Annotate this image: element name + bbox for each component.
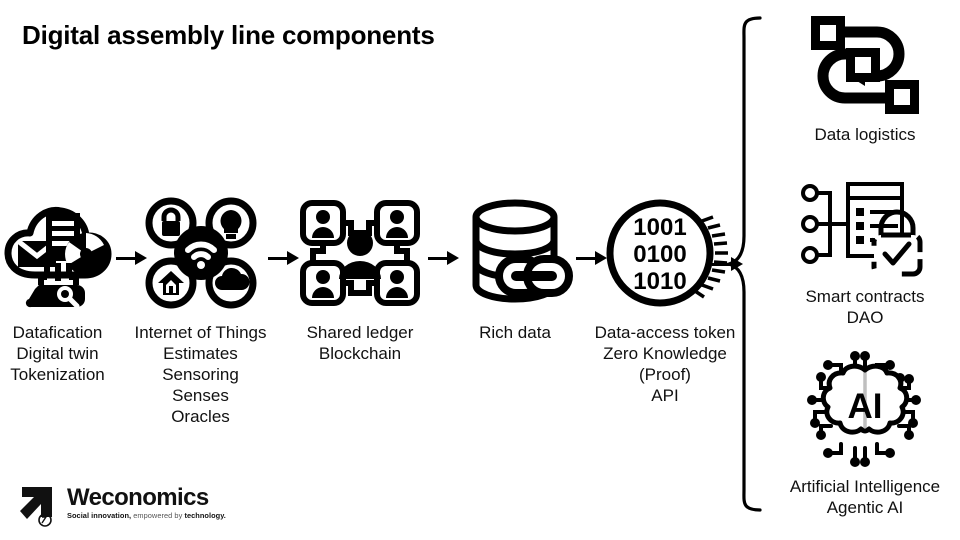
caption-line: Data logistics [770, 124, 960, 145]
caption-line: (Proof) [592, 364, 738, 385]
database-chain-icon [455, 188, 575, 318]
caption-line: Datafication [0, 322, 115, 343]
stage-caption-shared-ledger: Shared ledger Blockchain [295, 322, 425, 364]
arrow-mark-icon [18, 483, 58, 527]
caption-line: Internet of Things [128, 322, 273, 343]
output-caption-artificial-intelligence: Artificial Intelligence Agentic AI [770, 476, 960, 518]
output-caption-smart-contracts: Smart contracts DAO [770, 286, 960, 328]
ai-brain-circuit-icon: AI [770, 348, 960, 470]
pipeline-stage-internet-of-things: Internet of Things Estimates Sensoring S… [128, 188, 273, 427]
stage-caption-datafication: Datafication Digital twin Tokenization [0, 322, 115, 385]
iot-network-icon [128, 188, 273, 318]
stage-caption-internet-of-things: Internet of Things Estimates Sensoring S… [128, 322, 273, 427]
caption-line: Tokenization [0, 364, 115, 385]
output-data-logistics: Data logistics [770, 14, 960, 145]
caption-line: Artificial Intelligence [770, 476, 960, 497]
weconomics-logo: Weconomics Social innovation, empowered … [18, 483, 226, 527]
flow-route-icon [770, 14, 960, 118]
caption-line: Digital twin [0, 343, 115, 364]
caption-line: Shared ledger [295, 322, 425, 343]
contract-lock-icon [770, 180, 960, 278]
caption-line: Data-access token [592, 322, 738, 343]
caption-line: API [592, 385, 738, 406]
token-digits-line-3: 1010 [633, 268, 686, 295]
output-artificial-intelligence: AI Artificial Intelligence Agentic AI [770, 348, 960, 518]
peer-network-icon [295, 188, 425, 318]
flow-arrow-2-icon [268, 250, 298, 266]
logo-wordmark: Weconomics [67, 486, 226, 510]
pipeline-stage-data-access-token: 1001 0100 1010 Data-access token Zero Kn… [592, 188, 738, 406]
ai-brain-label: AI [848, 387, 883, 426]
output-caption-data-logistics: Data logistics [770, 124, 960, 145]
output-smart-contracts: Smart contracts DAO [770, 180, 960, 328]
stage-caption-rich-data: Rich data [455, 322, 575, 343]
flow-arrow-3-icon [428, 250, 458, 266]
caption-line: Agentic AI [770, 497, 960, 518]
caption-line: Oracles [128, 406, 273, 427]
stage-caption-data-access-token: Data-access token Zero Knowledge (Proof)… [592, 322, 738, 406]
caption-line: Smart contracts [770, 286, 960, 307]
token-digits-line-1: 1001 [633, 214, 686, 241]
logo-tagline: Social innovation, empowered by technolo… [67, 511, 226, 520]
caption-line: DAO [770, 307, 960, 328]
caption-line: Senses [128, 385, 273, 406]
cloud-data-icon [0, 188, 115, 318]
caption-line: Blockchain [295, 343, 425, 364]
caption-line: Zero Knowledge [592, 343, 738, 364]
caption-line: Rich data [455, 322, 575, 343]
caption-line: Sensoring [128, 364, 273, 385]
pipeline-stage-rich-data: Rich data [455, 188, 575, 343]
tagline-bold-2: technology. [184, 511, 225, 520]
token-digits-line-2: 0100 [633, 241, 686, 268]
caption-line: Estimates [128, 343, 273, 364]
pipeline-stage-shared-ledger: Shared ledger Blockchain [295, 188, 425, 364]
tagline-light: empowered by [131, 511, 184, 520]
page-title: Digital assembly line components [22, 20, 435, 51]
tagline-bold-1: Social innovation, [67, 511, 131, 520]
grouping-brace [726, 14, 768, 514]
pipeline-stage-datafication: Datafication Digital twin Tokenization [0, 188, 115, 385]
binary-token-icon: 1001 0100 1010 [592, 188, 738, 318]
